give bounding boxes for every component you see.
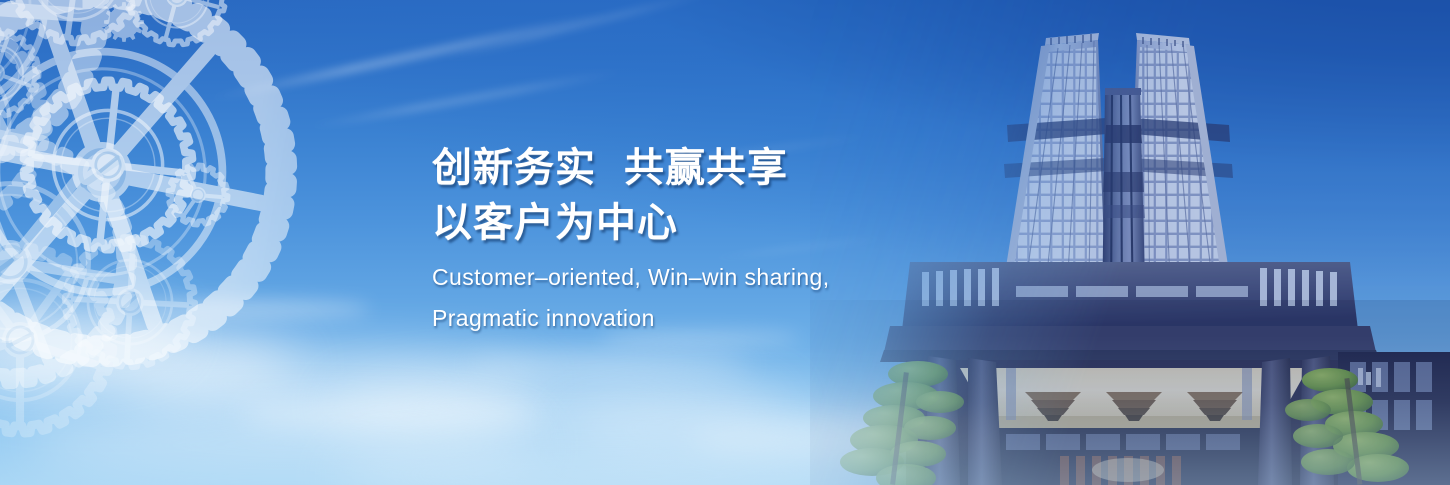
headline-chinese-line-2: 以客户为中心 (432, 196, 830, 251)
skyscraper-photo (810, 0, 1450, 485)
subtitle-english-line-2: Pragmatic innovation (432, 298, 830, 339)
subtitle-english-line-1: Customer–oriented, Win–win sharing, (432, 257, 830, 298)
hero-copy: 创新务实共赢共享 以客户为中心 Customer–oriented, Win–w… (432, 141, 830, 339)
headline-cn-part-b: 共赢共享 (624, 146, 788, 190)
headline-cn-part-a: 创新务实 (432, 146, 596, 190)
headline-chinese-line-1: 创新务实共赢共享 (432, 141, 830, 196)
hero-banner: 创新务实共赢共享 以客户为中心 Customer–oriented, Win–w… (0, 0, 1450, 485)
